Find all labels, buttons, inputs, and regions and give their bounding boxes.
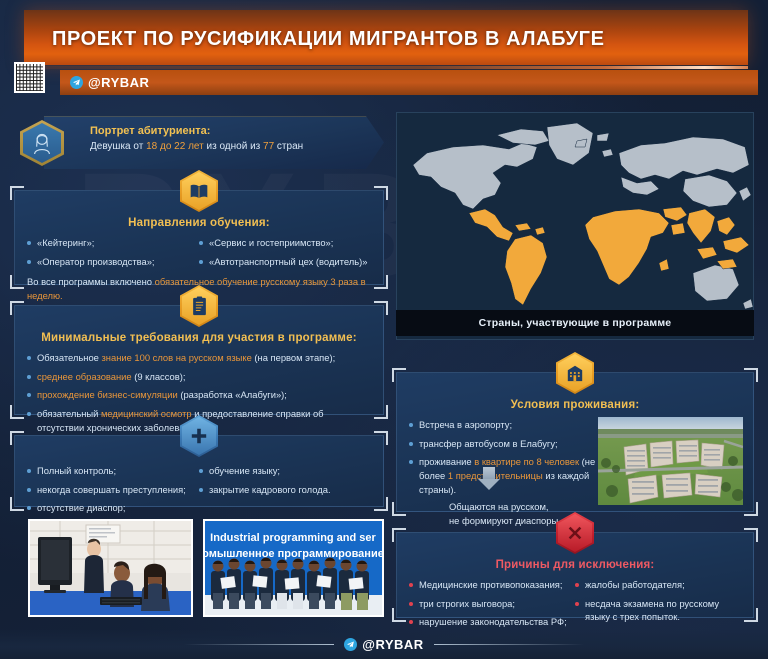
exclusion-right-column: жалобы работодателя; несдача экзамена по… — [575, 578, 741, 634]
list-item: Встреча в аэропорту; — [409, 418, 609, 432]
list-item: среднее образование (9 классов); — [27, 370, 371, 384]
list-item: «Автотранспортный цех (водитель)» — [199, 255, 371, 269]
svg-text:омышленное программирование: омышленное программирование — [205, 548, 382, 560]
dormitory-photo — [598, 417, 743, 505]
list-item: Медицинские противопоказания; — [409, 578, 575, 592]
list-item: три строгих выговора; — [409, 597, 575, 611]
study-left-column: «Кейтеринг»; «Оператор производства»; — [27, 236, 199, 273]
list-item: проживание в квартире по 8 человек (не б… — [409, 455, 609, 496]
list-item: «Кейтеринг»; — [27, 236, 199, 250]
header-channel-name: @RYBAR — [88, 75, 149, 90]
housing-conditions-panel: Условия проживания: Встреча в аэропорту;… — [396, 372, 754, 512]
list-item: закрытие кадрового голода. — [199, 483, 371, 497]
housing-note: Общаются на русском, не формируют диаспо… — [449, 500, 561, 527]
minimum-requirements-panel: Минимальные требования для участия в про… — [14, 305, 384, 415]
list-item: обучение языку; — [199, 464, 371, 478]
world-map — [396, 112, 754, 340]
telegram-icon — [70, 76, 83, 89]
footer-divider-right — [434, 644, 584, 645]
list-item: отсутствие диаспор; — [27, 501, 199, 515]
benefits-left-column: Полный контроль; некогда совершать прест… — [27, 464, 199, 520]
footer-channel[interactable]: @RYBAR — [334, 637, 433, 652]
students-at-computers-photo — [28, 519, 193, 617]
infographic-page: RYBAR ПРОЕКТ ПО РУСИФИКАЦИИ МИГРАНТОВ В … — [0, 0, 768, 659]
svg-text:Industrial programming and ser: Industrial programming and ser — [210, 532, 376, 544]
list-item: Полный контроль; — [27, 464, 199, 478]
footer-divider-left — [184, 644, 334, 645]
study-directions-panel: Направления обучения: «Кейтеринг»; «Опер… — [14, 190, 384, 285]
list-item: Обязательное знание 100 слов на русском … — [27, 351, 371, 365]
list-item: жалобы работодателя; — [575, 578, 741, 592]
page-title: ПРОЕКТ ПО РУСИФИКАЦИИ МИГРАНТОВ В АЛАБУГ… — [52, 28, 605, 51]
qr-code-icon — [14, 62, 45, 93]
exclusion-reasons-panel: Причины для исключения: Медицинские прот… — [396, 532, 754, 618]
telegram-icon — [344, 638, 357, 651]
list-item: «Сервис и гостеприимство»; — [199, 236, 371, 250]
header: ПРОЕКТ ПО РУСИФИКАЦИИ МИГРАНТОВ В АЛАБУГ… — [0, 0, 768, 95]
list-item: прохождение бизнес-симуляции (разработка… — [27, 388, 371, 402]
benefits-right-column: обучение языку; закрытие кадрового голод… — [199, 464, 371, 520]
study-right-column: «Сервис и гостеприимство»; «Автотранспор… — [199, 236, 371, 273]
map-caption: Страны, участвующие в программе — [396, 310, 754, 336]
list-item: «Оператор производства»; — [27, 255, 199, 269]
list-item: несдача экзамена по русскому языку с тре… — [575, 597, 741, 624]
portrait-title: Портрет абитуриента: — [90, 125, 303, 137]
list-item: нарушение законодательства РФ; — [409, 615, 575, 629]
list-item: некогда совершать преступления; — [27, 483, 199, 497]
header-channel-strip: @RYBAR — [60, 70, 758, 95]
exclusion-left-column: Медицинские противопоказания; три строги… — [409, 578, 575, 634]
footer-channel-name: @RYBAR — [362, 637, 423, 652]
list-item: трансфер автобусом в Елабугу; — [409, 437, 609, 451]
group-photo-industrial-programming: Industrial programming and ser омышленно… — [203, 519, 384, 617]
footer: @RYBAR — [0, 629, 768, 659]
world-map-svg — [397, 113, 754, 340]
header-underline — [26, 66, 748, 69]
benefits-panel: Полный контроль; некогда совершать прест… — [14, 435, 384, 507]
portrait-description: Девушка от 18 до 22 лет из одной из 77 с… — [90, 141, 303, 152]
applicant-portrait-banner: Портрет абитуриента: Девушка от 18 до 22… — [14, 116, 384, 168]
